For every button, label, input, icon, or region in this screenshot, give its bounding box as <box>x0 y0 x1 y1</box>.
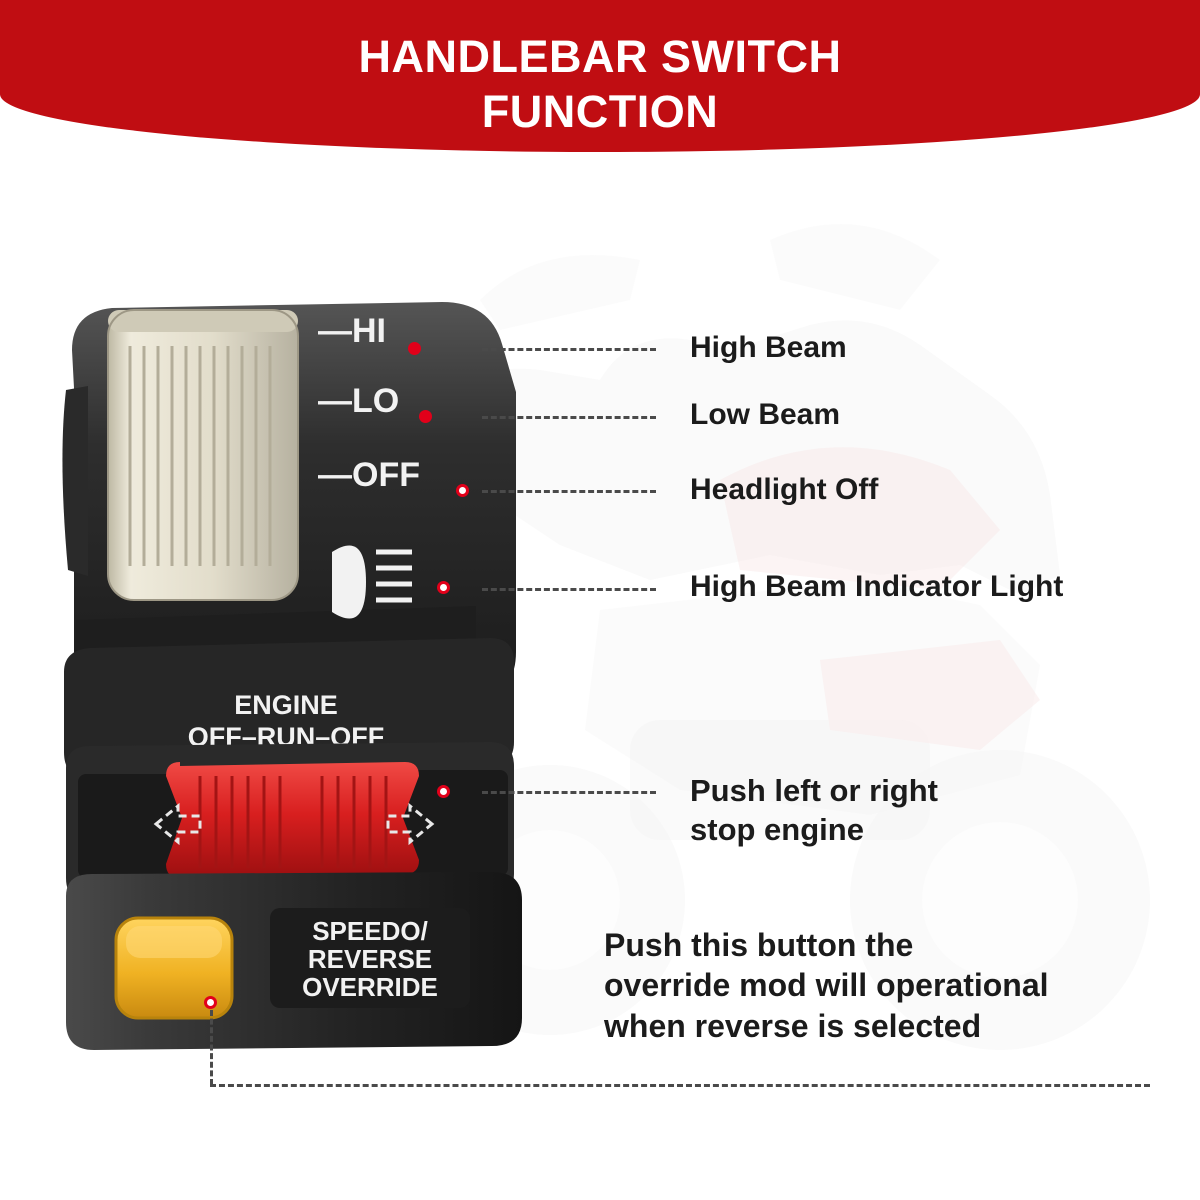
speedo-label-line1: SPEEDO/ <box>312 916 428 946</box>
callout-high-beam: High Beam <box>690 329 847 367</box>
speedo-label-line2: REVERSE <box>308 944 432 974</box>
callout-headlight-off: Headlight Off <box>690 471 878 509</box>
headlight-dial[interactable] <box>108 310 298 600</box>
handlebar-switch-assembly: —HI —LO —OFF ENGINE OFF–RUN–OFF <box>60 290 530 1070</box>
engraving-lo: —LO <box>318 382 399 420</box>
speedo-label-line3: OVERRIDE <box>302 972 438 1002</box>
leader-line-low-beam <box>482 416 656 419</box>
callout-low-beam: Low Beam <box>690 396 840 434</box>
leader-line-override-vertical <box>210 1010 213 1085</box>
anchor-dot-high-beam <box>408 342 421 355</box>
anchor-dot-high-beam-indicator <box>437 581 450 594</box>
callout-high-beam-indicator: High Beam Indicator Light <box>690 568 1063 606</box>
engraving-off: —OFF <box>318 456 420 494</box>
page-title: HANDLEBAR SWITCH FUNCTION <box>0 30 1200 140</box>
engine-label-line1: ENGINE <box>234 690 338 720</box>
callout-override-button: Push this button the override mod will o… <box>604 925 1049 1046</box>
anchor-dot-low-beam <box>419 410 432 423</box>
header-banner: HANDLEBAR SWITCH FUNCTION <box>0 0 1200 152</box>
leader-line-high-beam <box>482 348 656 351</box>
engraving-hi: —HI <box>318 312 386 350</box>
leader-line-high-beam-indicator <box>482 588 656 591</box>
anchor-dot-headlight-off <box>456 484 469 497</box>
leader-line-override-horizontal <box>210 1084 1150 1087</box>
callout-kill-switch: Push left or right stop engine <box>690 771 938 849</box>
anchor-dot-kill-switch <box>437 785 450 798</box>
leader-line-kill-switch <box>482 791 656 794</box>
anchor-dot-override-button <box>204 996 217 1009</box>
leader-line-headlight-off <box>482 490 656 493</box>
